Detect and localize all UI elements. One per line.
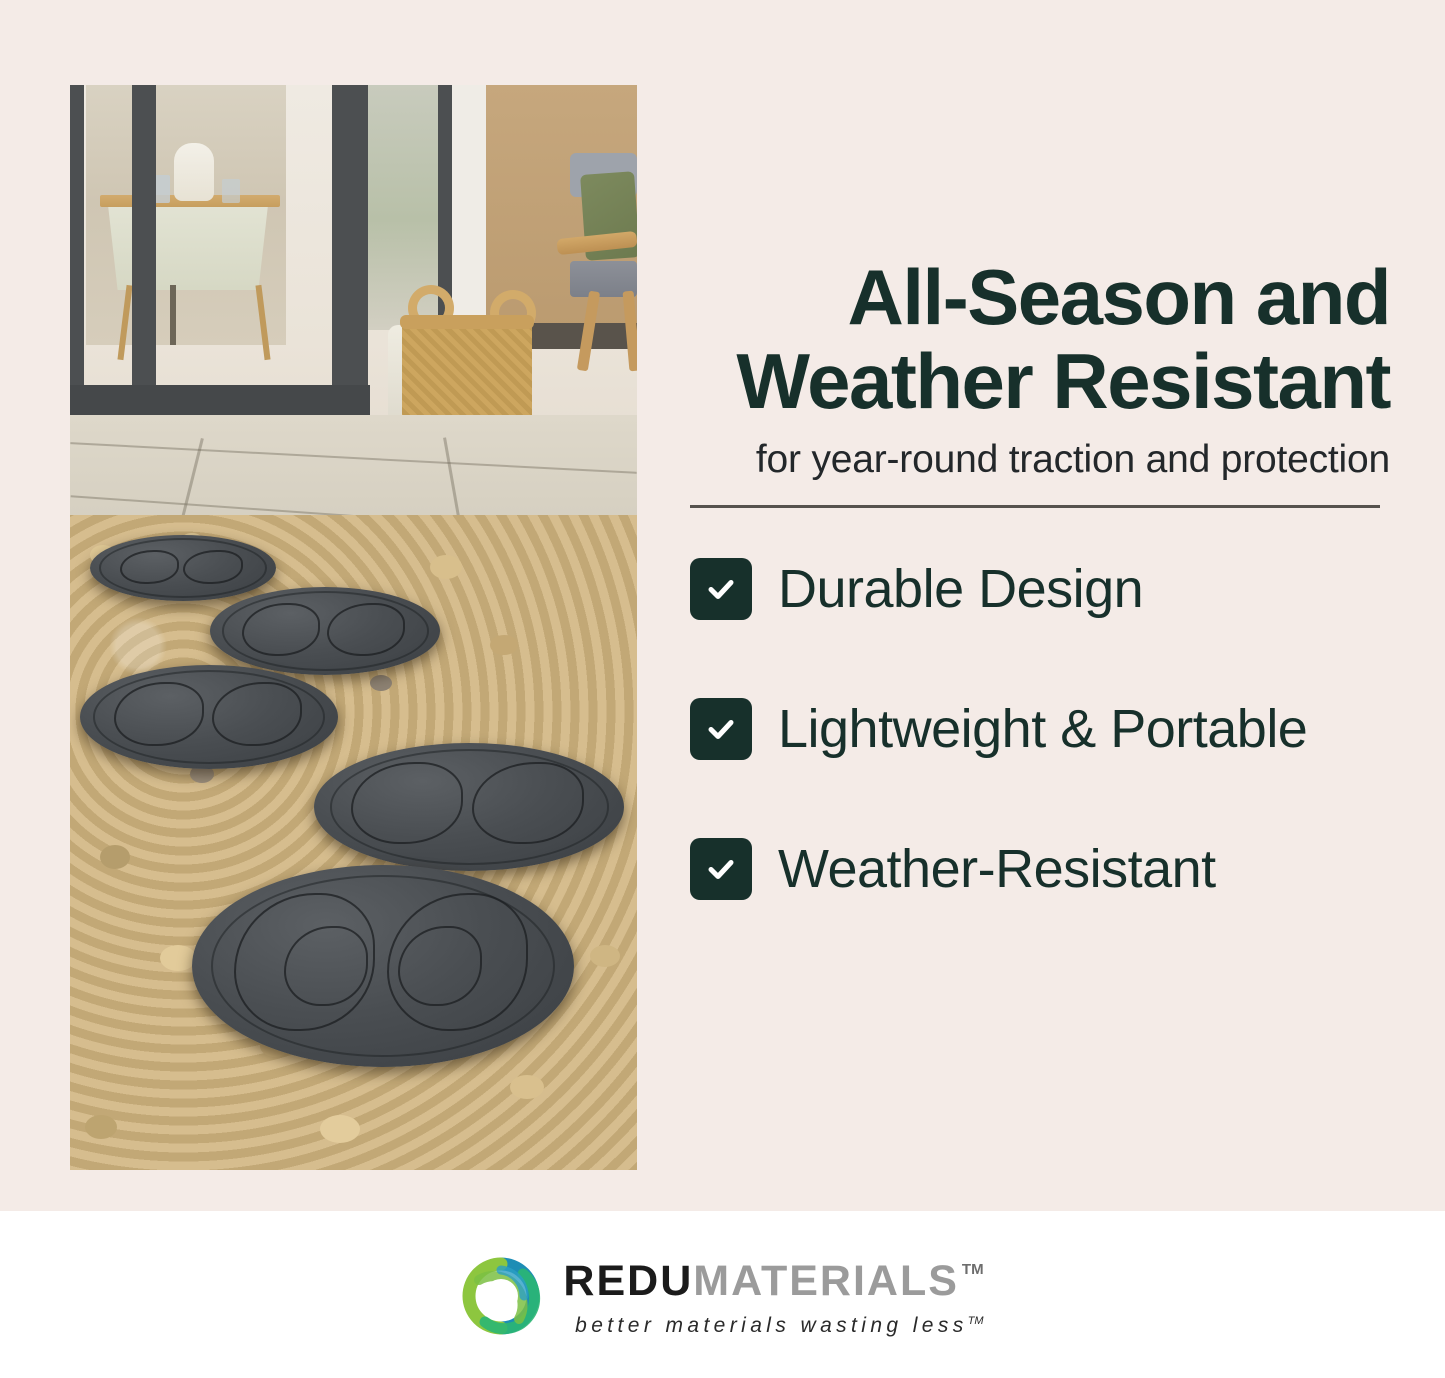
feature-label: Durable Design: [778, 560, 1143, 618]
tagline-trademark: TM: [968, 1315, 984, 1327]
patio-scene: [70, 85, 637, 515]
feature-item-lightweight-portable: Lightweight & Portable: [690, 698, 1390, 760]
feature-item-durable-design: Durable Design: [690, 558, 1390, 620]
wordmark: REDU MATERIALS TM: [563, 1260, 983, 1303]
stepping-stone: [90, 535, 276, 601]
headline-line-2: Weather Resistant: [690, 339, 1390, 423]
page-subtitle: for year-round traction and protection: [690, 437, 1390, 483]
brand-tagline: better materials wasting lessTM: [563, 1310, 983, 1337]
wordmark-secondary: MATERIALS: [693, 1260, 959, 1303]
promo-page: All-Season and Weather Resistant for yea…: [0, 0, 1445, 1378]
stepping-stone: [314, 743, 624, 871]
pebble-bed-scene: [70, 515, 637, 1170]
checkbox-checked-icon: [690, 558, 752, 620]
divider: [690, 505, 1380, 508]
footer: REDU MATERIALS TM better materials wasti…: [0, 1211, 1445, 1378]
feature-label: Weather-Resistant: [778, 840, 1216, 898]
stepping-stone: [210, 587, 440, 675]
checkbox-checked-icon: [690, 698, 752, 760]
door-mullion: [332, 85, 368, 405]
pebble: [85, 1115, 117, 1139]
pebble: [100, 845, 130, 869]
redu-swirl-ring-icon: [461, 1256, 541, 1341]
wordmark-primary: REDU: [563, 1260, 693, 1303]
door-jamb: [452, 85, 486, 335]
basket-rim: [400, 315, 534, 329]
feature-item-weather-resistant: Weather-Resistant: [690, 838, 1390, 900]
page-title: All-Season and Weather Resistant: [690, 255, 1390, 423]
pebble: [590, 945, 620, 967]
tagline-text: better materials wasting less: [575, 1314, 968, 1337]
pebble: [160, 945, 196, 971]
pebble: [510, 1075, 544, 1099]
feature-label: Lightweight & Portable: [778, 700, 1307, 758]
content-column: All-Season and Weather Resistant for yea…: [690, 255, 1390, 900]
vase: [174, 143, 214, 201]
door-frame: [70, 85, 84, 415]
checkbox-checked-icon: [690, 838, 752, 900]
pebble: [430, 555, 462, 579]
trademark-symbol: TM: [962, 1262, 984, 1277]
brand-logo: REDU MATERIALS TM better materials wasti…: [461, 1256, 983, 1341]
stepping-stone: [80, 665, 338, 769]
drinking-glass: [222, 179, 240, 203]
pebble: [370, 675, 392, 691]
hero-panel: All-Season and Weather Resistant for yea…: [0, 0, 1445, 1211]
headline-line-1: All-Season and: [690, 255, 1390, 339]
logo-text-block: REDU MATERIALS TM better materials wasti…: [563, 1260, 983, 1337]
door-mullion: [132, 85, 156, 415]
product-photo: [70, 85, 637, 1170]
pebble: [490, 635, 518, 655]
feature-list: Durable Design Lightweight & Portable: [690, 558, 1390, 900]
pebble: [320, 1115, 360, 1143]
table-leg: [170, 285, 176, 345]
stepping-stone: [192, 865, 574, 1067]
